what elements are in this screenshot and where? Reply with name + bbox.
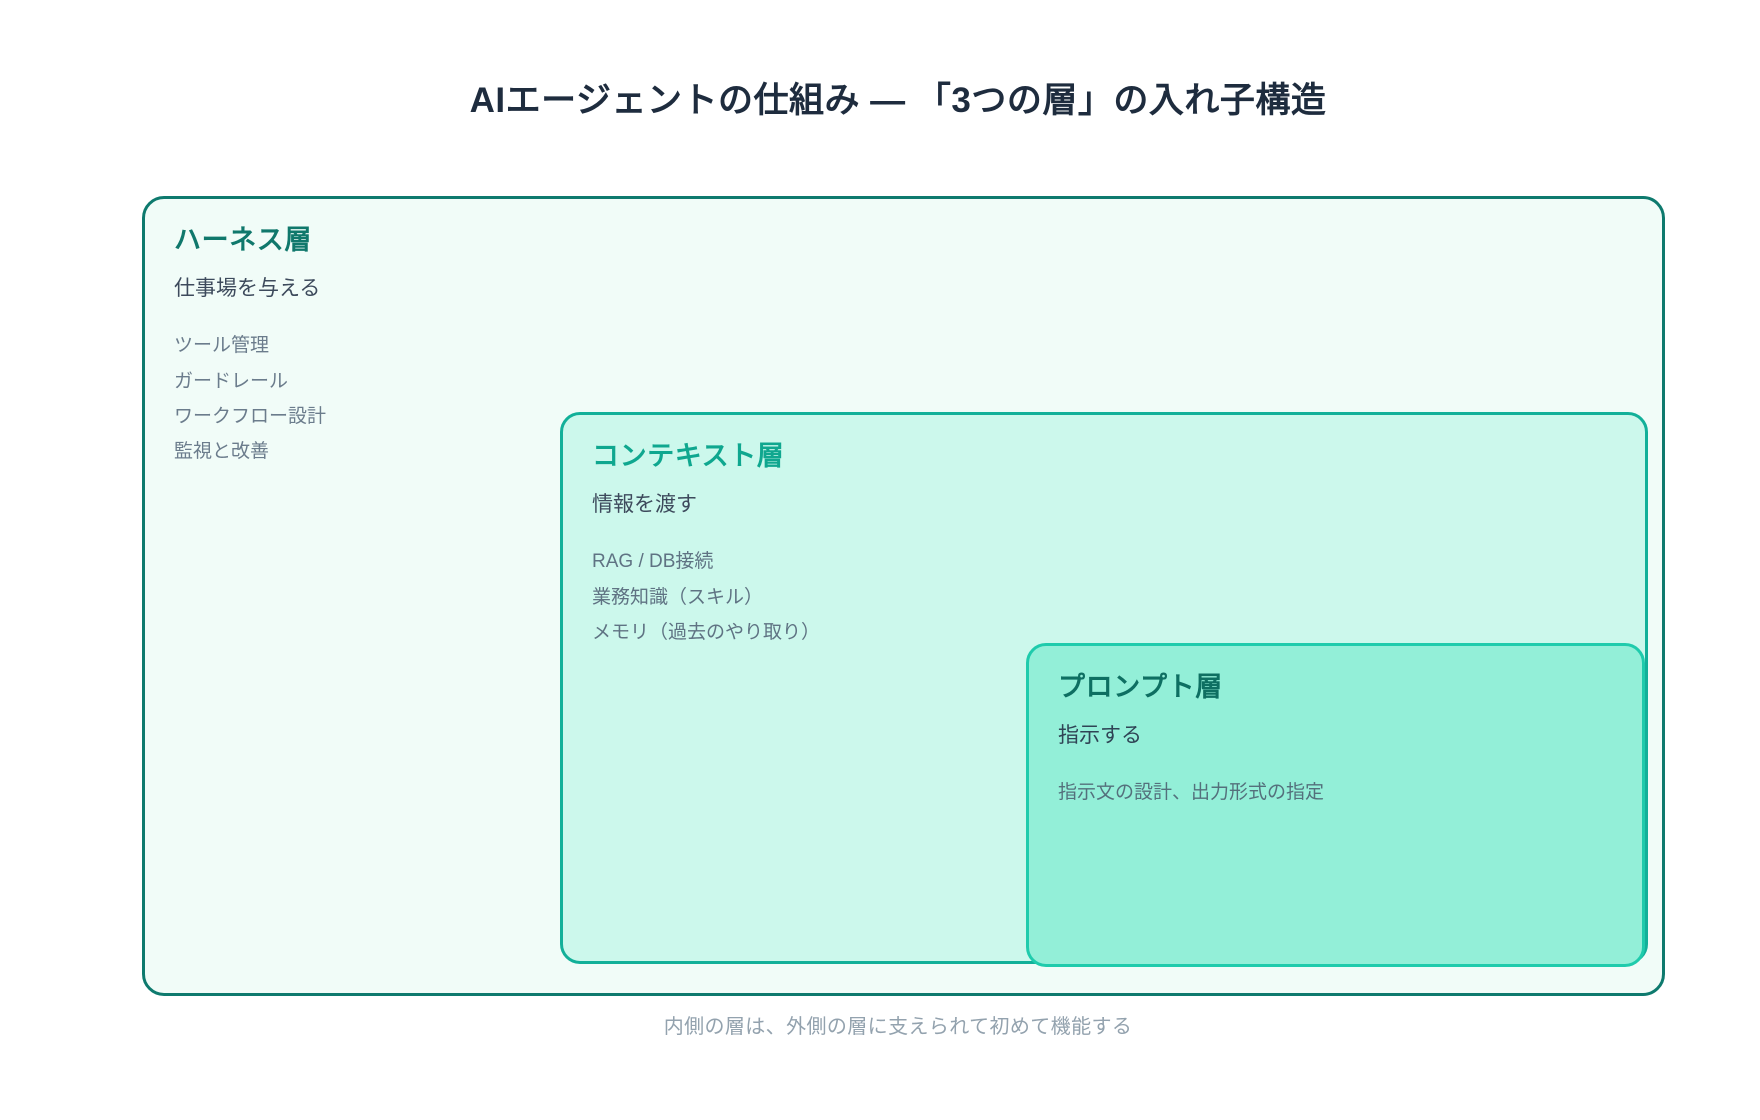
list-item: 業務知識（スキル） — [592, 580, 1621, 615]
list-item: ツール管理 — [174, 328, 1638, 363]
layer-context-subtitle: 情報を渡す — [592, 491, 1621, 518]
list-item: 指示文の設計、出力形式の指定 — [1058, 775, 1618, 810]
layer-prompt-item-list: 指示文の設計、出力形式の指定 — [1058, 775, 1618, 810]
list-item: ガードレール — [174, 364, 1638, 399]
layer-context-heading: コンテキスト層 — [592, 439, 1621, 474]
list-item: RAG / DB接続 — [592, 544, 1621, 579]
diagram-canvas: AIエージェントの仕組み ― 「3つの層」の入れ子構造 ハーネス層 仕事場を与え… — [0, 0, 1760, 1120]
layer-harness-heading: ハーネス層 — [174, 223, 1638, 258]
layer-harness-subtitle: 仕事場を与える — [174, 275, 1638, 302]
layer-prompt: プロンプト層 指示する 指示文の設計、出力形式の指定 — [1026, 643, 1645, 967]
layer-context: コンテキスト層 情報を渡す RAG / DB接続 業務知識（スキル） メモリ（過… — [560, 412, 1648, 964]
layer-harness: ハーネス層 仕事場を与える ツール管理 ガードレール ワークフロー設計 監視と改… — [142, 196, 1665, 996]
layer-context-content: コンテキスト層 情報を渡す RAG / DB接続 業務知識（スキル） メモリ（過… — [592, 439, 1621, 650]
layer-context-item-list: RAG / DB接続 業務知識（スキル） メモリ（過去のやり取り） — [592, 544, 1621, 649]
diagram-card: AIエージェントの仕組み ― 「3つの層」の入れ子構造 ハーネス層 仕事場を与え… — [18, 10, 1742, 1110]
page-title: AIエージェントの仕組み ― 「3つの層」の入れ子構造 — [18, 72, 1760, 123]
layer-prompt-content: プロンプト層 指示する 指示文の設計、出力形式の指定 — [1058, 670, 1618, 811]
diagram-caption: 内側の層は、外側の層に支えられて初めて機能する — [18, 1010, 1760, 1039]
layer-prompt-heading: プロンプト層 — [1058, 670, 1618, 705]
layer-prompt-subtitle: 指示する — [1058, 722, 1618, 749]
